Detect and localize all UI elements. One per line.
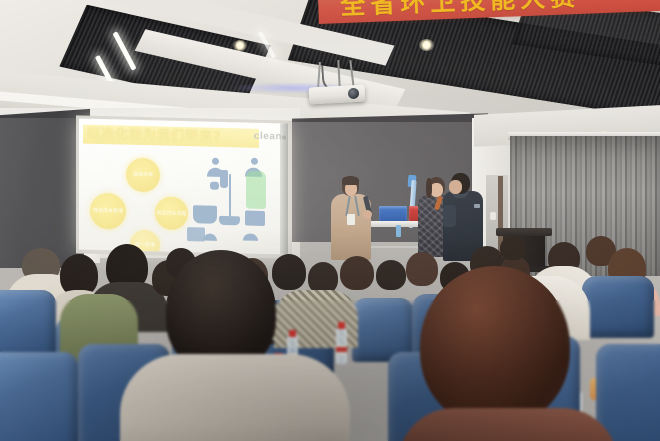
presenter-face [449, 180, 462, 194]
audience-head [272, 254, 306, 290]
demo-bin-blue [379, 206, 407, 222]
foreground-shoulders-right [398, 408, 618, 441]
slide-figure-green-icon [246, 171, 266, 209]
ceiling-downlight [233, 40, 247, 51]
presenter-hand [363, 210, 372, 219]
polo-logo [474, 204, 480, 208]
auditorium-seat-foreground [596, 344, 660, 441]
audience-area [0, 232, 660, 441]
slide-bubble: 降低成本管理 [90, 193, 126, 230]
name-badge [347, 214, 355, 225]
foreground-shoulders-center [120, 354, 350, 441]
ceiling-downlight [419, 39, 434, 51]
slide-mop-handle-icon [229, 174, 231, 218]
slide-spray-bottle-icon [220, 170, 228, 188]
conference-room-photo: 全省环卫技能大赛 标准化能为我们带来? clean 提高效率 降低成本管理 规范… [0, 0, 660, 441]
auditorium-seat-foreground [0, 352, 78, 441]
audience-head [406, 252, 438, 286]
slide-logo: clean [254, 131, 282, 143]
presenter-hair [342, 176, 359, 185]
presenter-hair [426, 178, 432, 198]
auditorium-seat [582, 276, 654, 338]
water-bottle [336, 328, 347, 364]
audience-head [376, 260, 406, 290]
slide-shorts-icon [245, 211, 265, 226]
slide-mop-head-icon [219, 216, 240, 226]
foreground-head-right [420, 266, 570, 426]
slide-bubble: 规范作业流程 [155, 196, 188, 230]
slide-bubble: 提高效率 [126, 158, 160, 193]
audience-head [340, 256, 374, 290]
presenter-sleeve [443, 205, 456, 227]
slide-bucket-icon [193, 205, 217, 224]
door-handle [490, 212, 496, 220]
audience-head [500, 236, 526, 260]
